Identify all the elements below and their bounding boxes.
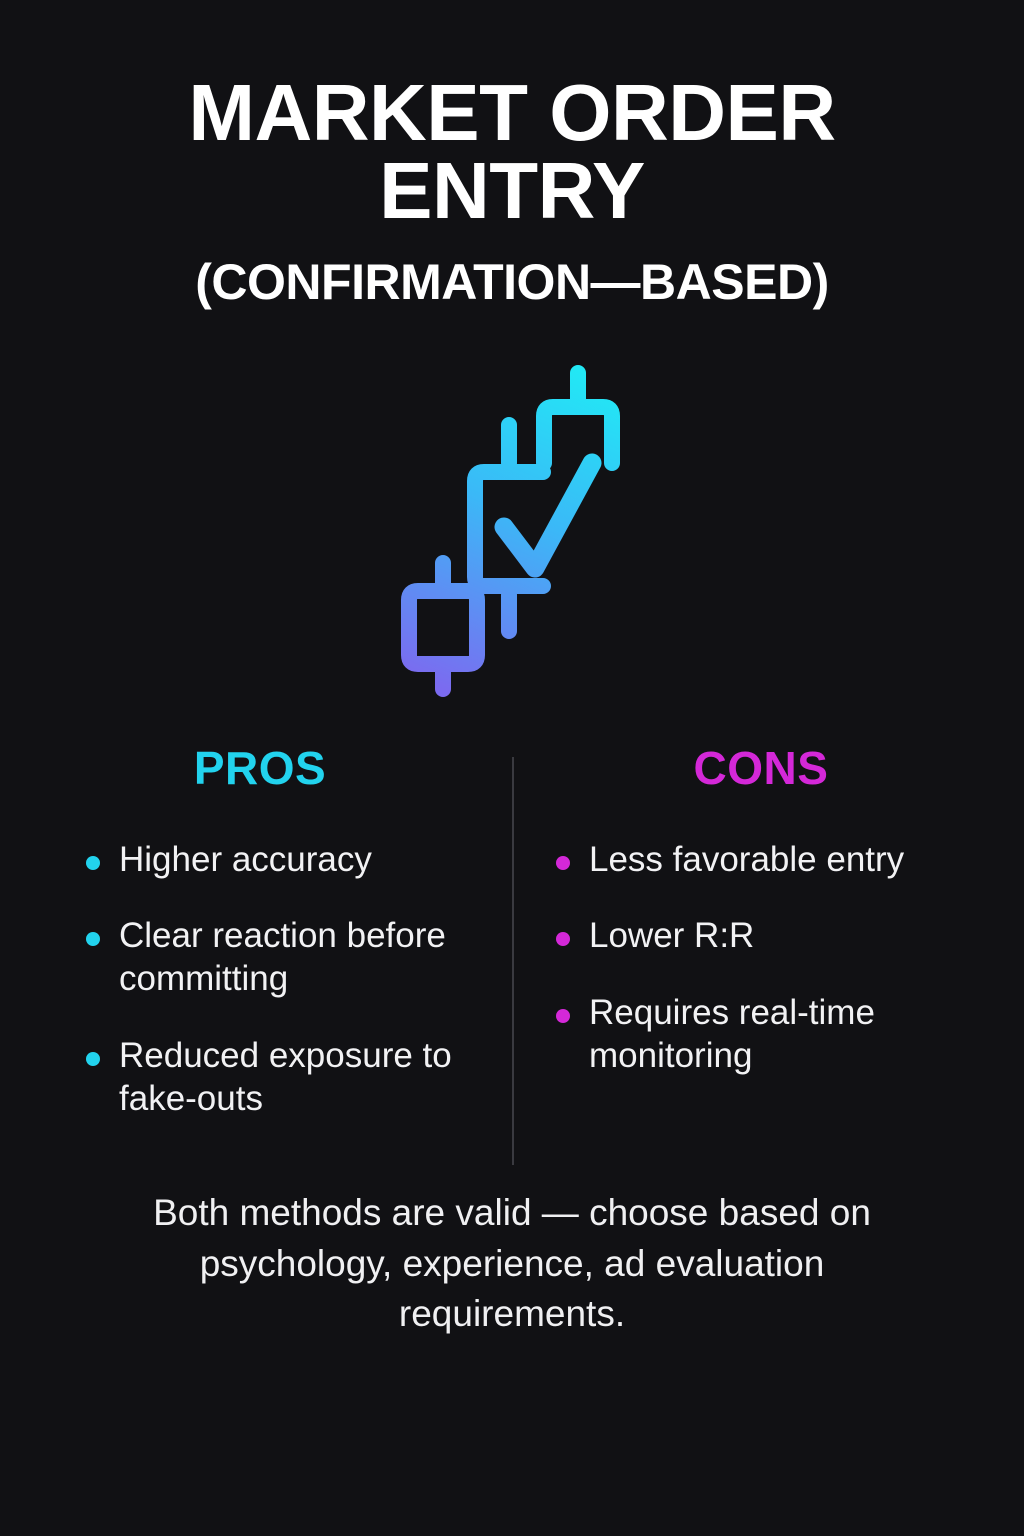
page-title-line-1: MARKET ORDER (188, 68, 835, 157)
pros-list: Higher accuracy Clear reaction before co… (86, 839, 492, 1120)
list-item: Reduced exposure to fake-outs (86, 1035, 492, 1120)
column-divider (512, 757, 514, 1165)
candlestick-chart-check-icon (387, 359, 637, 699)
pros-heading: PROS (86, 741, 492, 795)
pros-column: PROS Higher accuracy Clear reaction befo… (0, 741, 512, 1120)
cons-column: CONS Less favorable entry Lower R:R Requ… (512, 741, 1024, 1078)
pros-cons-columns: PROS Higher accuracy Clear reaction befo… (0, 741, 1024, 1120)
cons-heading: CONS (556, 741, 998, 795)
list-item-label: Clear reaction before committing (119, 915, 492, 1000)
bullet-dot-icon (556, 1009, 570, 1023)
page-subtitle: (CONFIRMATION—BASED) (0, 257, 1024, 307)
page-title: MARKET ORDER ENTRY (0, 74, 1024, 231)
bullet-dot-icon (86, 932, 100, 946)
bullet-dot-icon (556, 856, 570, 870)
bullet-dot-icon (556, 932, 570, 946)
list-item: Requires real-time monitoring (556, 992, 998, 1077)
list-item: Clear reaction before committing (86, 915, 492, 1000)
list-item-label: Lower R:R (589, 915, 998, 958)
list-item-label: Reduced exposure to fake-outs (119, 1035, 492, 1120)
cons-list: Less favorable entry Lower R:R Requires … (556, 839, 998, 1078)
bullet-dot-icon (86, 1052, 100, 1066)
list-item-label: Requires real-time monitoring (589, 992, 998, 1077)
list-item: Lower R:R (556, 915, 998, 958)
list-item-label: Less favorable entry (589, 839, 998, 882)
list-item-label: Higher accuracy (119, 839, 492, 882)
infographic-poster: MARKET ORDER ENTRY (CONFIRMATION—BASED) (0, 0, 1024, 1536)
bullet-dot-icon (86, 856, 100, 870)
list-item: Less favorable entry (556, 839, 998, 882)
list-item: Higher accuracy (86, 839, 492, 882)
footer-note: Both methods are valid — choose based on… (122, 1188, 902, 1339)
page-title-line-2: ENTRY (379, 146, 645, 235)
title-block: MARKET ORDER ENTRY (CONFIRMATION—BASED) (0, 0, 1024, 307)
